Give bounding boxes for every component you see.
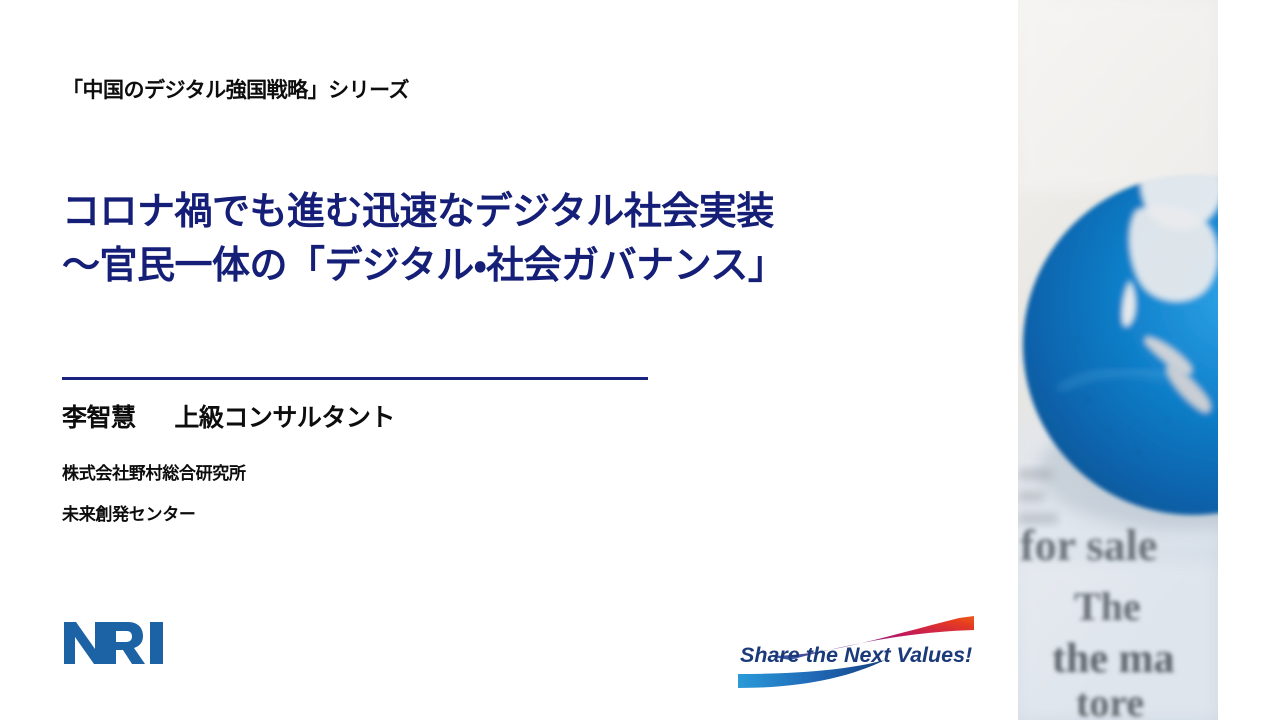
presenter-name: 李智慧 — [62, 404, 136, 432]
tagline-graphic: Share the Next Values! — [730, 612, 980, 692]
newspaper-word-tore: tore — [1076, 680, 1144, 720]
title-line-1: コロナ禍でも進む迅速なデジタル社会実装 — [62, 186, 962, 240]
newspaper-word-the: The — [1074, 584, 1141, 629]
right-white-margin — [1218, 0, 1280, 720]
series-label: 「中国のデジタル強国戦略」シリーズ — [62, 74, 409, 104]
globe-newspaper-image: for sale The the ma tore — [1018, 0, 1218, 720]
presenter-role: 上級コンサルタント — [174, 404, 395, 432]
tagline-text: Share the Next Values! — [740, 643, 972, 667]
newspaper-word-for-sale: for sale — [1020, 521, 1157, 570]
horizontal-divider — [62, 377, 648, 380]
globe-newspaper-photo: for sale The the ma tore — [1018, 0, 1218, 720]
page-title: コロナ禍でも進む迅速なデジタル社会実装 〜官民一体の「デジタル・社会ガバナンス」 — [62, 186, 962, 294]
title-line-2: 〜官民一体の「デジタル・社会ガバナンス」 — [62, 240, 962, 294]
tagline: Share the Next Values! — [730, 612, 980, 692]
presentation-slide: 「中国のデジタル強国戦略」シリーズ コロナ禍でも進む迅速なデジタル社会実装 〜官… — [0, 0, 1280, 720]
presenter-name-row: 李智慧 上級コンサルタント — [62, 398, 395, 434]
presenter-org-line-1: 株式会社野村総合研究所 — [62, 459, 246, 484]
newspaper-word-the-ma: the ma — [1052, 636, 1174, 682]
nri-logo — [62, 620, 166, 666]
nri-logo-icon — [62, 620, 166, 666]
presenter-org-line-2: 未来創発センター — [62, 500, 196, 525]
